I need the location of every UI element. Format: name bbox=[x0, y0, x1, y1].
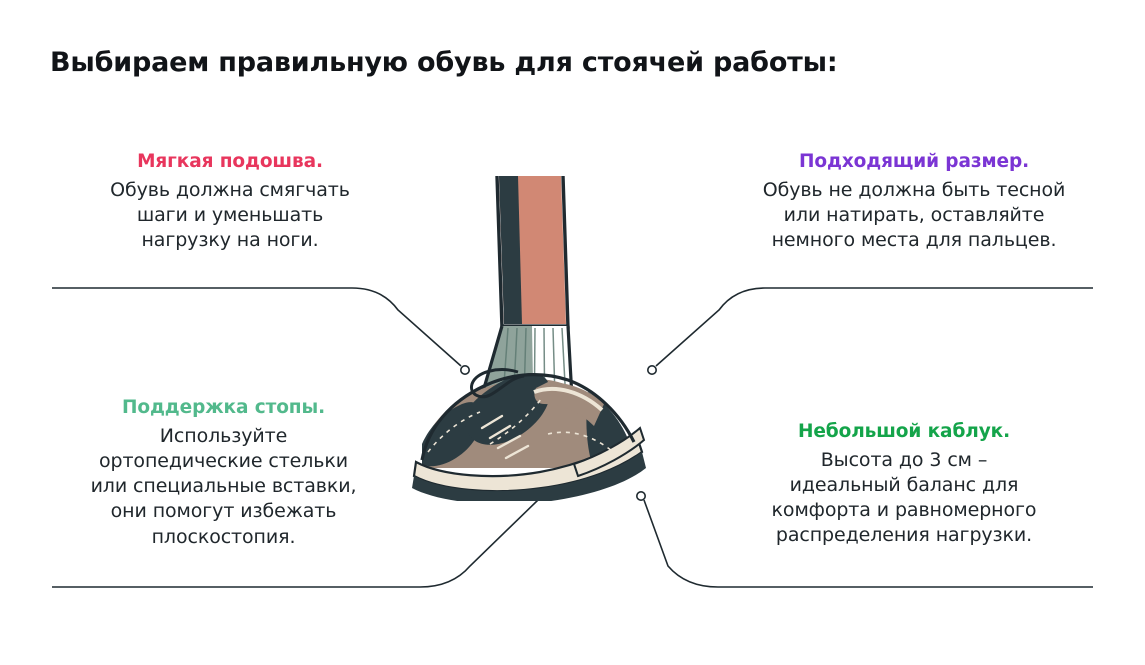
callout-low-heel-body: Высота до 3 см – идеальный баланс для ко… bbox=[713, 448, 1095, 549]
callout-line: Используйте bbox=[45, 424, 402, 449]
callout-line: или натирать, оставляйте bbox=[723, 203, 1105, 228]
callout-line: или специальные вставки, bbox=[45, 474, 402, 499]
callout-soft-sole-heading: Мягкая подошва. bbox=[60, 150, 400, 175]
shoe-group bbox=[412, 370, 646, 501]
callout-low-heel-heading: Небольшой каблук. bbox=[713, 420, 1095, 445]
page-title: Выбираем правильную обувь для стоячей ра… bbox=[50, 47, 1050, 79]
callout-arch-support: Поддержка стопы. Используйте ортопедичес… bbox=[45, 396, 402, 550]
callout-line: они помогут избежать bbox=[45, 499, 402, 524]
callout-soft-sole-body: Обувь должна смягчать шаги и уменьшать н… bbox=[60, 178, 400, 254]
callout-line: шаги и уменьшать bbox=[60, 203, 400, 228]
callout-line: комфорта и равномерного bbox=[713, 498, 1095, 523]
callout-line: идеальный баланс для bbox=[713, 473, 1095, 498]
infographic-page: Выбираем правильную обувь для стоячей ра… bbox=[0, 0, 1145, 665]
connector-top-right bbox=[656, 288, 1093, 366]
callout-line: Обувь должна смягчать bbox=[60, 178, 400, 203]
callout-line: Высота до 3 см – bbox=[713, 448, 1095, 473]
callout-line: нагрузку на ноги. bbox=[60, 228, 400, 253]
callout-low-heel: Небольшой каблук. Высота до 3 см – идеал… bbox=[713, 420, 1095, 549]
callout-line: плоскостопия. bbox=[45, 525, 402, 550]
callout-line: распределения нагрузки. bbox=[713, 523, 1095, 548]
callout-arch-support-heading: Поддержка стопы. bbox=[45, 396, 402, 421]
callout-proper-size-heading: Подходящий размер. bbox=[723, 150, 1105, 175]
callout-line: немного места для пальцев. bbox=[723, 228, 1105, 253]
callout-line: ортопедические стельки bbox=[45, 449, 402, 474]
callout-proper-size: Подходящий размер. Обувь не должна быть … bbox=[723, 150, 1105, 253]
callout-soft-sole: Мягкая подошва. Обувь должна смягчать ша… bbox=[60, 150, 400, 253]
leg-group bbox=[497, 176, 568, 328]
callout-line: Обувь не должна быть тесной bbox=[723, 178, 1105, 203]
callout-arch-support-body: Используйте ортопедические стельки или с… bbox=[45, 424, 402, 550]
callout-proper-size-body: Обувь не должна быть тесной или натирать… bbox=[723, 178, 1105, 254]
leg-in-sneaker-illustration bbox=[398, 176, 698, 501]
